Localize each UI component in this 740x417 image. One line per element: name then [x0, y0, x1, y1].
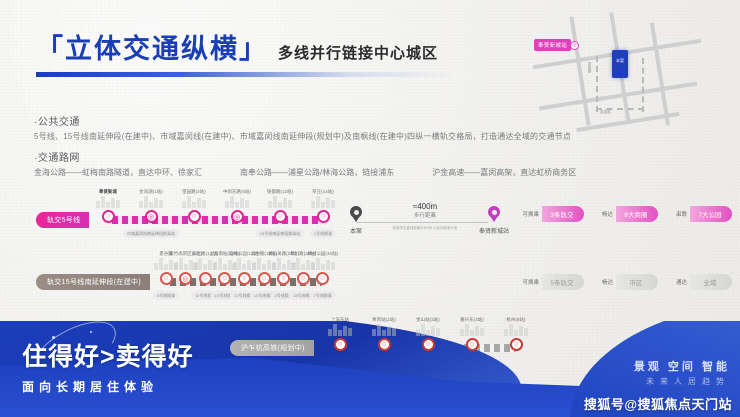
banner-headline: 住得好>卖得好	[22, 345, 194, 370]
stat-badge: 畅达8大商圈	[602, 206, 658, 222]
bottom-banner: 住得好>卖得好 面向长期居住体验 景观 空间 智能 未来人居趋势 搜狐号@搜狐焦…	[0, 321, 740, 417]
station-label: 金山站(3站)	[416, 317, 440, 323]
station-icon: ○	[102, 210, 115, 223]
stat-badge-label: 通达	[676, 278, 687, 286]
skyline-icon	[328, 324, 352, 336]
station-icon: ○	[466, 338, 479, 351]
station-icon: ○	[510, 338, 523, 351]
skyline-icon	[372, 324, 396, 336]
stat-badge-value: 5条轨交	[542, 274, 584, 290]
station-icon: ○	[316, 272, 329, 285]
origin-label: 本案	[350, 226, 362, 235]
station-marker[interactable]: 和川路(26站)○13号线换乘	[297, 272, 310, 285]
station-icon: ○	[317, 210, 330, 223]
skyline-icon	[504, 324, 528, 336]
watermark: 搜狐号@搜狐焦点天门站	[584, 394, 732, 413]
interchange-station-icon: ◎	[231, 210, 244, 223]
station-icon: ○	[258, 272, 271, 285]
skyline-icon	[311, 258, 335, 270]
slogan-primary: 景观 空间 智能	[634, 358, 730, 374]
map-boundary	[642, 58, 644, 112]
body-copy: ·公共交通 5号线、15号线南延伸段(在建中)、市域嘉闵线(在建中)、市域嘉闵线…	[34, 113, 724, 178]
line-track	[108, 216, 324, 224]
stat-badge-label: 可换乘	[522, 278, 539, 286]
station-marker[interactable]: 娄山关路(22站)○2号线换乘	[277, 272, 290, 285]
skyline-icon	[96, 196, 120, 208]
station-transfer-tag: 15号线南延伸段换乘站	[256, 229, 304, 238]
station-marker[interactable]: 顾村公园(34站)○7号线换乘	[316, 272, 329, 285]
station-label: 莘庄(14站)	[312, 189, 334, 195]
banner-subheadline: 面向长期居住体验	[22, 378, 194, 395]
map-pin-icon-origin: 本案	[350, 206, 362, 222]
header: 「立体交通纵横」 多线并行链接中心城区	[36, 36, 456, 77]
station-icon: ○	[218, 272, 231, 285]
station-marker[interactable]: 银都路(12站)○15号线南延伸段换乘站	[274, 210, 287, 223]
line-name-pill: 沪乍杭高铁(规划中)	[230, 340, 314, 356]
station-marker[interactable]: 杭州(8站)○	[510, 338, 523, 351]
station-icon: ○	[422, 338, 435, 351]
walk-distance-value: ≈400m	[413, 202, 437, 211]
station-transfer-tag: 1号线换乘	[310, 229, 336, 238]
station-label: 望园路(2站)	[182, 189, 206, 195]
minimap-station-marker[interactable]: 奉贤新城站 ◎	[534, 39, 579, 51]
page-subtitle: 多线并行链接中心城区	[278, 42, 438, 63]
station-transfer-tag: 7号线换乘	[310, 291, 336, 300]
stat-badge-label: 可换乘	[522, 210, 539, 218]
station-label: 奉贤新城	[99, 189, 117, 195]
stat-badge-value: 全域	[690, 274, 732, 290]
stat-badge: 可换乘3条轨交	[522, 206, 584, 222]
title-underline	[36, 72, 456, 77]
badge-row-line15: 可换乘5条轨交畅达市区通达全域	[522, 274, 732, 290]
station-label: 上海东站	[331, 317, 349, 323]
interchange-station-icon: ◎	[179, 272, 192, 285]
stat-badge: 畅达市区	[602, 274, 658, 290]
station-marker[interactable]: 莘庄(14站)○1号线换乘	[317, 210, 330, 223]
destination-label: 奉贤新城站	[479, 226, 509, 235]
station-icon: ○	[188, 210, 201, 223]
station-icon: ○	[274, 210, 287, 223]
project-block: 本案	[612, 50, 628, 78]
station-marker[interactable]: 吴中路(18站)○10号线换乘	[258, 272, 271, 285]
station-label: 杭州(8站)	[506, 317, 525, 323]
stat-badge-value: 3条轨交	[542, 206, 584, 222]
map-pin-icon-destination: 奉贤新城站	[488, 206, 500, 222]
station-marker[interactable]: 嘉兴东(3站)○	[466, 338, 479, 351]
metro-icon: ◎	[570, 41, 579, 50]
station-icon: ○	[160, 272, 173, 285]
metro-line-row: 轨交5号线 奉贤新城○金海湖(1站)◎市域嘉闵线南延伸段换乘站望园路(2站)○中…	[36, 186, 326, 244]
skyline-icon	[268, 196, 292, 208]
skyline-icon	[416, 324, 440, 336]
road-item: 南奉公路——浦星公路/林海公路，链接浦东	[240, 167, 394, 178]
walk-note: 距离项目直线距离约400米 以实际距离为准	[393, 226, 457, 231]
station-icon: ○	[277, 272, 290, 285]
station-marker[interactable]: 金山站(3站)○	[422, 338, 435, 351]
station-marker[interactable]: 东兰路(12站)○12号线换乘	[199, 272, 212, 285]
line-name-pill: 轨交5号线	[36, 212, 89, 228]
stat-badge: 通达全域	[676, 274, 732, 290]
station-icon: ○	[238, 272, 251, 285]
walk-distance-group: ≈400m 步行距离	[413, 202, 437, 219]
station-label: 银都路(12站)	[267, 189, 293, 195]
station-label: 奉贤站(2站)	[372, 317, 396, 323]
walk-distance-caption: 步行距离	[413, 211, 437, 219]
skyline-icon	[139, 196, 163, 208]
page-title: 「立体交通纵横」	[36, 36, 268, 63]
interchange-station-icon: ◎	[145, 210, 158, 223]
station-marker[interactable]: 紫竹高新区(5站)◎	[179, 272, 192, 285]
station-icon: ○	[199, 272, 212, 285]
road-list: 金海公路——虹梅南路隧道，直达中环、徐家汇 南奉公路——浦星公路/林海公路，链接…	[34, 167, 724, 178]
station-icon: ○	[334, 338, 347, 351]
stat-badge-label: 畅达	[602, 278, 613, 286]
skyline-icon	[225, 196, 249, 208]
stat-badge: 可换乘5条轨交	[522, 274, 584, 290]
copy-head-roads: ·交通路网	[34, 149, 724, 164]
station-marker[interactable]: 上海东站○	[334, 338, 347, 351]
stat-badge: 串联7大公园	[676, 206, 732, 222]
slogan-secondary: 未来人居趋势	[634, 376, 730, 387]
station-label: 嘉兴东(3站)	[460, 317, 484, 323]
station-marker[interactable]: 景谷路○5号线换乘	[160, 272, 173, 285]
station-transfer-tag: 市域嘉闵线南延伸段换乘站	[123, 229, 179, 238]
sparkle-icon	[90, 331, 92, 333]
station-label: 中闵东路(5站)	[223, 189, 251, 195]
walk-connector	[356, 222, 488, 223]
skyline-icon	[182, 196, 206, 208]
station-label: 金海湖(1站)	[139, 189, 163, 195]
map-boundary	[596, 56, 598, 112]
map-street-label: 望园路	[588, 62, 593, 73]
stat-badge-value: 8大商圈	[616, 206, 658, 222]
metro-line-row: 轨交15号线南延伸段(在建中) 景谷路○5号线换乘紫竹高新区(5站)◎东兰路(1…	[36, 248, 326, 306]
project-block-label: 本案	[612, 59, 628, 64]
map-road	[539, 82, 698, 111]
station-marker[interactable]: 望园路(2站)○	[188, 210, 201, 223]
stat-badge-label: 畅达	[602, 210, 613, 218]
station-icon: ○	[378, 338, 391, 351]
banner-text: 住得好>卖得好 面向长期居住体验	[22, 345, 194, 395]
skyline-icon	[460, 324, 484, 336]
station-marker[interactable]: 奉贤站(2站)○	[378, 338, 391, 351]
title-row: 「立体交通纵横」 多线并行链接中心城区	[36, 36, 456, 63]
road-item: 沪金高速——嘉闵高架，直达虹桥商务区	[432, 167, 576, 178]
minimap-station-label: 奉贤新城站	[534, 39, 571, 51]
stat-badge-value: 7大公园	[690, 206, 732, 222]
road-item: 金海公路——虹梅南路隧道，直达中环、徐家汇	[34, 167, 202, 178]
skyline-icon	[311, 196, 335, 208]
sparkle-icon	[52, 336, 55, 339]
line-name-pill: 轨交15号线南延伸段(在建中)	[36, 274, 150, 290]
stat-badge-label: 串联	[676, 210, 687, 218]
station-transfer-tag: 5号线换乘	[153, 291, 179, 300]
stat-badge-value: 市区	[616, 274, 658, 290]
map-road	[650, 22, 670, 125]
track-dashes	[108, 216, 324, 224]
slide-page: 「立体交通纵横」 多线并行链接中心城区 本案 奉贤新城站 ◎ 望园路 金碧路 ·…	[0, 0, 740, 417]
station-marker[interactable]: 桂林公园(17站)○12号线换乘	[238, 272, 251, 285]
station-marker[interactable]: 奉贤新城○	[102, 210, 115, 223]
station-marker[interactable]: 金海湖(1站)◎市域嘉闵线南延伸段换乘站	[145, 210, 158, 223]
copy-head-transit: ·公共交通	[34, 113, 724, 128]
station-icon: ○	[297, 272, 310, 285]
station-marker[interactable]: 上海南站(16站)○1/3号线换乘	[218, 272, 231, 285]
station-label: 顾村公园(34站)	[307, 251, 338, 257]
copy-text-transit: 5号线、15号线南延伸段(在建中)、市域嘉闵线(在建中)、市域嘉闵线南延伸段(规…	[34, 131, 724, 143]
station-marker[interactable]: 中闵东路(5站)◎	[231, 210, 244, 223]
badge-row-line5: 可换乘3条轨交畅达8大商圈串联7大公园	[522, 206, 732, 222]
banner-slogan: 景观 空间 智能 未来人居趋势	[634, 358, 730, 387]
